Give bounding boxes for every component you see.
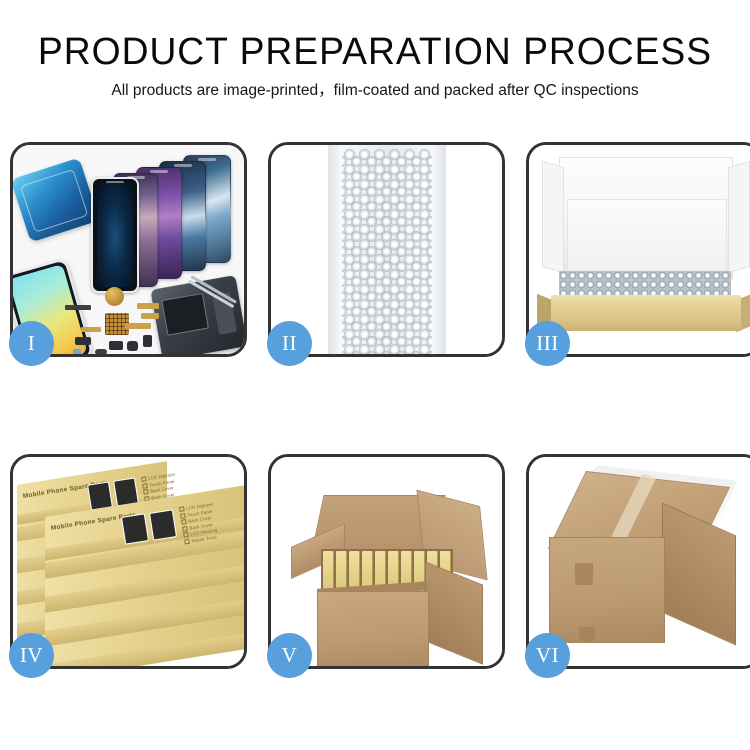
step-badge-4: IV — [9, 633, 54, 678]
camera-part — [143, 335, 152, 347]
product-preparation-infographic: PRODUCT PREPARATION PROCESS All products… — [0, 0, 750, 750]
carton-front — [549, 537, 665, 643]
screen-protector-film-icon — [13, 157, 99, 242]
step-panel-1: I — [10, 142, 247, 357]
speaker-coil-part — [105, 287, 124, 306]
step-image-2 — [271, 145, 502, 354]
header: PRODUCT PREPARATION PROCESS All products… — [0, 30, 750, 101]
open-carton — [291, 487, 486, 662]
stacked-boxes: Mobile Phone Spare Parts LCD Digitizer T… — [15, 471, 244, 666]
step-image-5 — [271, 457, 502, 666]
step-badge-3: III — [525, 321, 570, 366]
phone-screen-1 — [91, 177, 139, 293]
carton-tab — [579, 627, 595, 641]
spare-parts-cluster — [65, 287, 185, 354]
part-strip — [65, 305, 91, 310]
step-panel-5: V — [268, 454, 505, 669]
step-image-6 — [529, 457, 750, 666]
flex-cable-part — [137, 303, 159, 309]
small-part — [95, 349, 107, 354]
step-image-1 — [13, 145, 244, 354]
carton-side-right — [662, 503, 736, 646]
step-badge-2: II — [267, 321, 312, 366]
speaker-part — [75, 337, 91, 345]
process-step-grid: I II — [10, 142, 740, 669]
step-image-4: Mobile Phone Spare Parts LCD Digitizer T… — [13, 457, 244, 666]
box-checklist-front: LCD Digitizer Touch Panel Back Cover Bac… — [179, 502, 219, 546]
page-subtitle: All products are image-printed，film-coat… — [0, 81, 750, 101]
step-panel-2: II — [268, 142, 505, 357]
step-badge-5: V — [267, 633, 312, 678]
carton-front — [317, 591, 429, 666]
step-badge-1: I — [9, 321, 54, 366]
step-badge-6: VI — [525, 633, 570, 678]
box-thumb-image — [149, 509, 177, 540]
battery-part — [73, 349, 81, 354]
step-image-3 — [529, 145, 750, 354]
sleeve-seam-right — [434, 145, 446, 354]
flex-cable-part — [125, 323, 151, 329]
step-panel-4: Mobile Phone Spare Parts LCD Digitizer T… — [10, 454, 247, 669]
carton-tab — [575, 563, 593, 585]
bubble-pattern-offset — [342, 154, 432, 354]
flex-cable-part — [81, 327, 101, 332]
foam-insert — [567, 199, 727, 273]
page-title: PRODUCT PREPARATION PROCESS — [8, 30, 743, 74]
phone-screen-fan — [91, 153, 241, 283]
box-front-panel — [551, 303, 741, 331]
sealed-carton — [545, 479, 745, 659]
step-panel-6: VI — [526, 454, 750, 669]
step-panel-3: III — [526, 142, 750, 357]
box-thumb-image — [121, 513, 149, 544]
flex-cable-part — [141, 313, 159, 319]
bubble-wrap-sleeve — [328, 145, 446, 354]
speaker-part — [109, 341, 123, 350]
button-part — [127, 341, 138, 351]
sleeve-seam-left — [328, 145, 340, 354]
